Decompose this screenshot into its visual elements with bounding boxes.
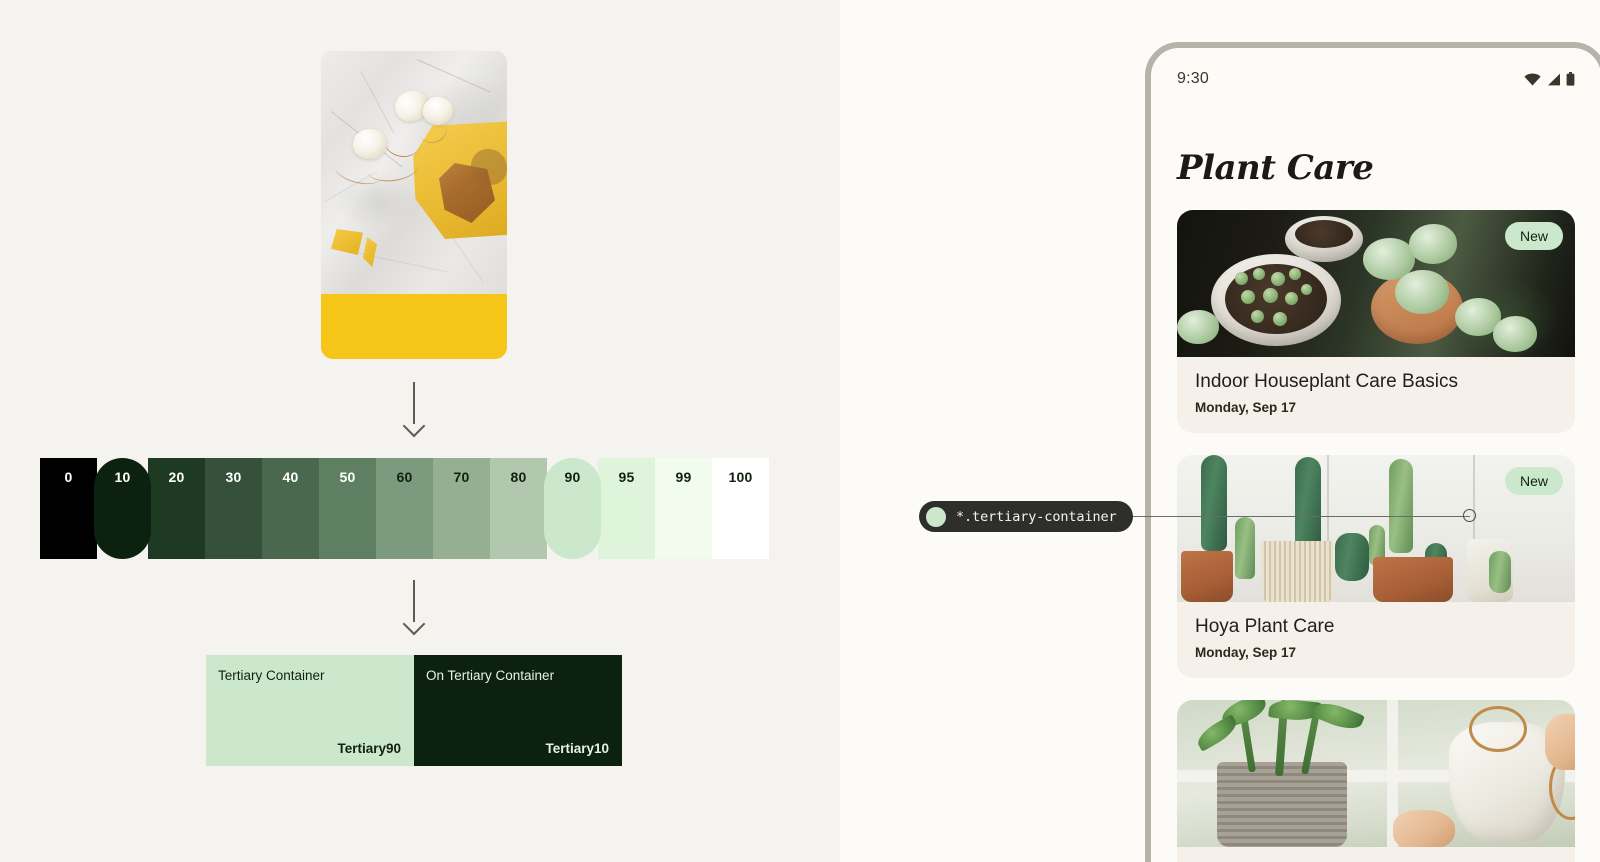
down-arrow-icon	[403, 580, 425, 632]
succulent-bead	[1235, 272, 1248, 285]
pot-soil	[1295, 220, 1353, 248]
cactus	[1335, 533, 1369, 581]
color-role-pair: Tertiary ContainerTertiary90On Tertiary …	[206, 655, 622, 766]
screenshot-root: 01020304050607080909599100 Tertiary Cont…	[0, 0, 1600, 862]
card-body	[1177, 847, 1575, 862]
down-arrow-icon	[403, 382, 425, 434]
card-body: Indoor Houseplant Care Basics Monday, Se…	[1177, 357, 1575, 433]
new-badge: New	[1505, 222, 1563, 250]
card-image	[1177, 700, 1575, 847]
page-title: Plant Care	[1151, 110, 1600, 188]
cactus	[1201, 455, 1227, 551]
tone-swatch-0[interactable]: 0	[40, 458, 97, 559]
token-name: *.tertiary-container	[956, 509, 1117, 525]
tone-swatch-20[interactable]: 20	[148, 458, 205, 559]
new-badge: New	[1505, 467, 1563, 495]
tone-label: 100	[729, 470, 753, 559]
tone-swatch-95[interactable]: 95	[598, 458, 655, 559]
annotation-pointer-line	[1110, 516, 1470, 517]
tone-swatch-99[interactable]: 99	[655, 458, 712, 559]
card-image: New	[1177, 210, 1575, 357]
color-role-cell[interactable]: Tertiary ContainerTertiary90	[206, 655, 414, 766]
cactus	[1489, 551, 1511, 593]
geranium-leaf	[1409, 224, 1457, 264]
tone-swatch-60[interactable]: 60	[376, 458, 433, 559]
role-name: Tertiary Container	[218, 669, 400, 683]
status-bar: 9:30	[1151, 48, 1600, 110]
source-image-card[interactable]	[321, 51, 507, 359]
color-role-cell[interactable]: On Tertiary ContainerTertiary10	[414, 655, 622, 766]
card-date: Monday, Sep 17	[1195, 645, 1557, 660]
tone-label: 0	[65, 470, 73, 559]
geranium-leaf	[1395, 270, 1449, 314]
tonal-palette-strip: 01020304050607080909599100	[40, 458, 769, 559]
palette-panel: 01020304050607080909599100 Tertiary Cont…	[0, 0, 840, 862]
succulent-bead	[1289, 268, 1301, 280]
role-name: On Tertiary Container	[426, 669, 608, 683]
article-card[interactable]: New Indoor Houseplant Care Basics Monday…	[1177, 210, 1575, 433]
tone-swatch-10[interactable]: 10	[94, 458, 151, 559]
tone-label: 90	[565, 470, 581, 559]
cactus	[1235, 517, 1255, 579]
article-card[interactable]: New Hoya Plant Care Monday, Sep 17	[1177, 455, 1575, 678]
article-card[interactable]	[1177, 700, 1575, 862]
card-image: New	[1177, 455, 1575, 602]
role-tone: Tertiary90	[337, 742, 401, 756]
geranium-leaf	[1177, 310, 1219, 344]
succulent-bead	[1241, 290, 1255, 304]
geranium-leaf	[1493, 316, 1537, 352]
battery-icon	[1566, 72, 1575, 86]
marble-vein	[417, 59, 491, 93]
card-body: Hoya Plant Care Monday, Sep 17	[1177, 602, 1575, 678]
tone-swatch-50[interactable]: 50	[319, 458, 376, 559]
striped-pot	[1261, 541, 1333, 602]
hand	[1545, 714, 1575, 770]
extracted-color-swatch	[321, 294, 507, 359]
succulent-bead	[1253, 268, 1265, 280]
succulent-bead	[1263, 288, 1278, 303]
tone-label: 40	[283, 470, 299, 559]
status-bar-clock: 9:30	[1177, 70, 1209, 88]
arrow-head	[403, 415, 426, 438]
status-bar-icons	[1524, 72, 1575, 86]
succulent-bead	[1271, 272, 1285, 286]
terracotta-pot	[1373, 557, 1453, 602]
annotation-pointer-target	[1463, 509, 1476, 522]
tone-swatch-70[interactable]: 70	[433, 458, 490, 559]
plant-leaf	[1311, 700, 1365, 735]
tone-label: 60	[397, 470, 413, 559]
tone-label: 50	[340, 470, 356, 559]
tone-label: 30	[226, 470, 242, 559]
succulent-bead	[1301, 284, 1312, 295]
cellular-signal-icon	[1546, 73, 1561, 86]
tone-swatch-40[interactable]: 40	[262, 458, 319, 559]
tone-swatch-30[interactable]: 30	[205, 458, 262, 559]
card-date: Monday, Sep 17	[1195, 400, 1557, 415]
tone-swatch-100[interactable]: 100	[712, 458, 769, 559]
tone-swatch-90[interactable]: 90	[544, 458, 601, 559]
article-card-list: New Indoor Houseplant Care Basics Monday…	[1151, 188, 1600, 862]
succulent-bead	[1285, 292, 1298, 305]
hand	[1393, 810, 1455, 847]
tone-label: 20	[169, 470, 185, 559]
card-title: Indoor Houseplant Care Basics	[1195, 371, 1557, 393]
amber-chip	[363, 237, 377, 267]
wifi-icon	[1524, 73, 1541, 86]
token-color-swatch	[926, 507, 946, 527]
watering-can-spout	[1469, 706, 1527, 752]
terracotta-pot	[1181, 551, 1233, 602]
tone-label: 10	[115, 470, 131, 559]
source-image-photo	[321, 51, 507, 294]
amber-chip	[331, 229, 363, 255]
token-tooltip[interactable]: *.tertiary-container	[919, 501, 1133, 532]
plant-leaf	[1193, 714, 1240, 752]
phone-mockup: 9:30 Plant Care	[1145, 42, 1600, 862]
tone-label: 70	[454, 470, 470, 559]
arrow-head	[403, 613, 426, 636]
succulent-bead	[1251, 310, 1264, 323]
tone-label: 95	[619, 470, 635, 559]
role-tone: Tertiary10	[545, 742, 609, 756]
succulent-bead	[1273, 312, 1287, 326]
tone-swatch-80[interactable]: 80	[490, 458, 547, 559]
watering-can-photo	[1177, 700, 1575, 847]
cactus	[1389, 459, 1413, 553]
card-title: Hoya Plant Care	[1195, 616, 1557, 638]
preview-panel: 9:30 Plant Care	[840, 0, 1600, 862]
tone-label: 80	[511, 470, 527, 559]
tone-label: 99	[676, 470, 692, 559]
